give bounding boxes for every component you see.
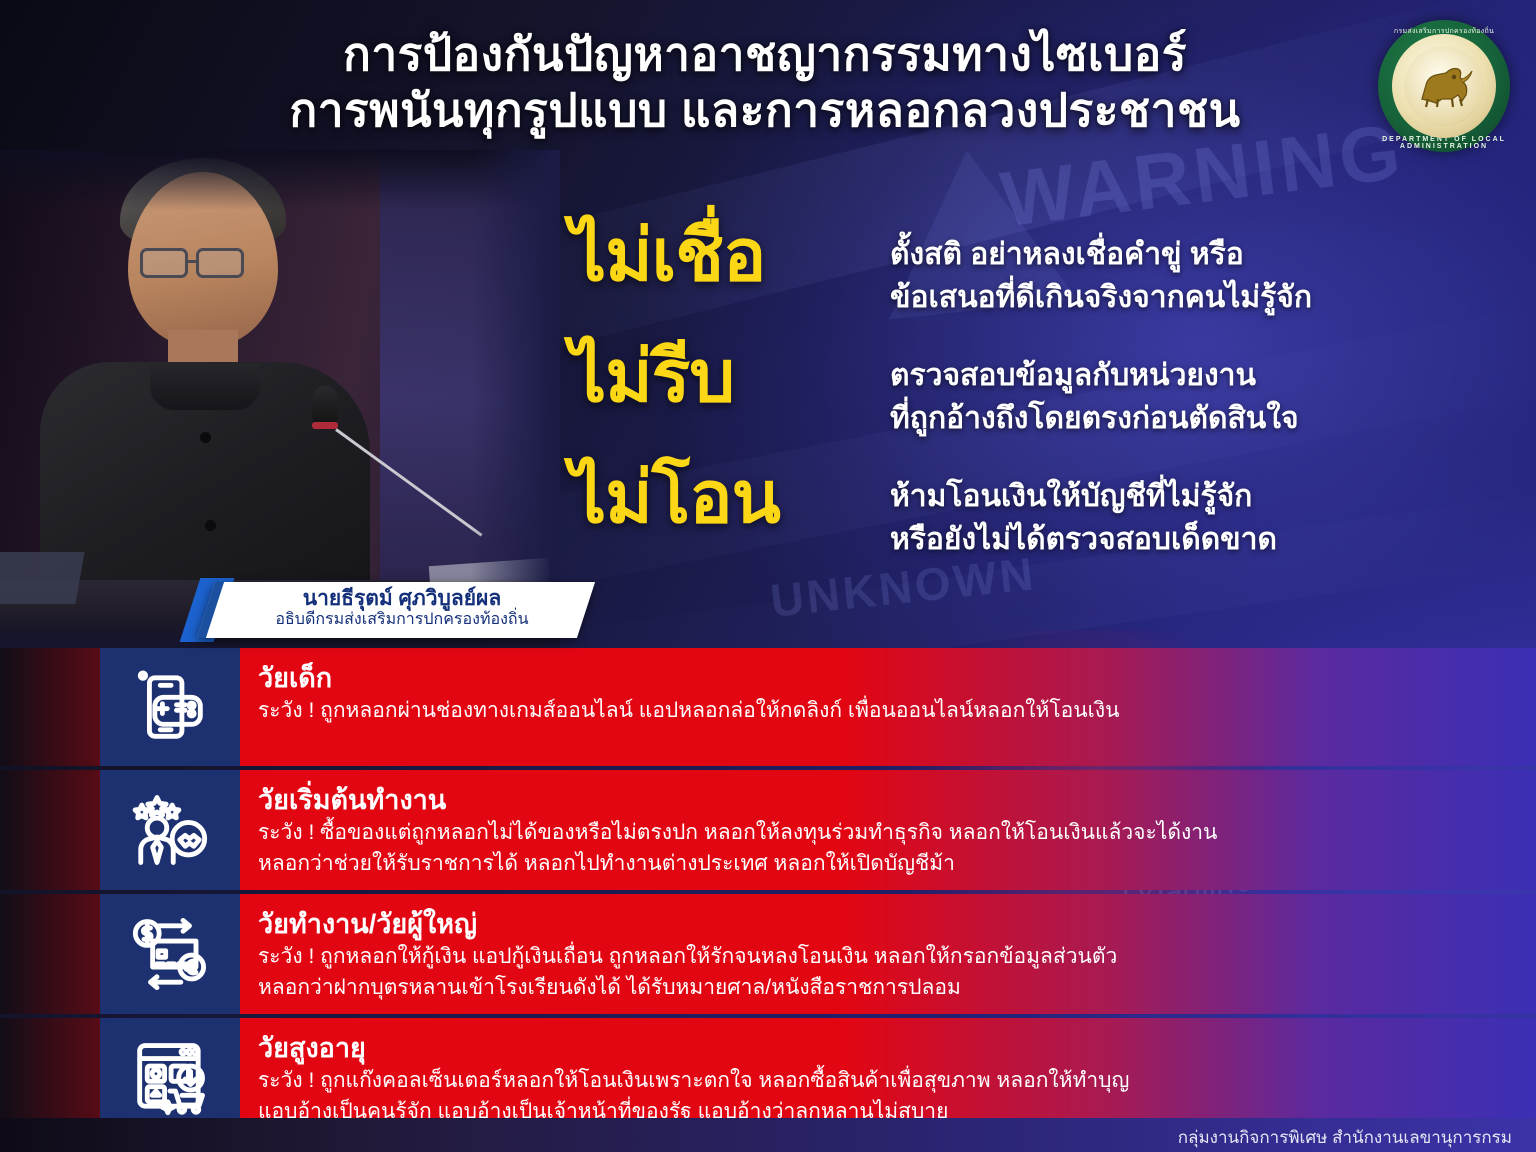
slogan-description: ห้ามโอนเงินให้บัญชีที่ไม่รู้จัก หรือยังไ… xyxy=(890,458,1500,561)
slogan-keyword: ไม่เชื่อ xyxy=(570,216,890,297)
online-shopping-icon xyxy=(131,1039,209,1117)
photo-collar xyxy=(150,364,260,410)
speaker-name: นายธีรุตม์ ศุภวิบูลย์ผล xyxy=(216,587,587,611)
slogan-keyword: ไม่รีบ xyxy=(570,337,890,418)
row-icon-container xyxy=(100,770,240,890)
slogan-desc-line: ห้ามโอนเงินให้บัญชีที่ไม่รู้จัก xyxy=(890,476,1500,519)
age-group-list: วัยเด็ก ระวัง ! ถูกหลอกผ่านช่องทางเกมส์อ… xyxy=(0,648,1536,1142)
slogan-desc-line: ตั้งสติ อย่าหลงเชื่อคำขู่ หรือ xyxy=(890,234,1500,277)
slogan-item: ไม่เชื่อ ตั้งสติ อย่าหลงเชื่อคำขู่ หรือ … xyxy=(570,216,1500,319)
speaker-photo xyxy=(0,150,560,650)
department-emblem-logo: กรมส่งเสริมการปกครองท้องถิ่น DEPARTMENT … xyxy=(1370,12,1518,160)
row-text-container: วัยเด็ก ระวัง ! ถูกหลอกผ่านช่องทางเกมส์อ… xyxy=(258,648,1496,766)
desc-line: หลอกว่าฝากบุตรหลานเข้าโรงเรียนดังได้ ได้… xyxy=(258,973,1496,1004)
slogan-desc-line: หรือยังไม่ได้ตรวจสอบเด็ดขาด xyxy=(890,519,1500,562)
phone-gamepad-icon xyxy=(131,668,209,746)
title-line-2: การพนันทุกรูปแบบ และการหลอกลวงประชาชน xyxy=(170,82,1360,138)
speaker-position: อธิบดีกรมส่งเสริมการปกครองท้องถิ่น xyxy=(216,611,587,629)
age-group-title: วัยทำงาน/วัยผู้ใหญ่ xyxy=(258,908,1496,940)
footer-credit: กลุ่มงานกิจการพิเศษ สำนักงานเลขานุการกรม xyxy=(1178,1124,1512,1151)
desc-line: หลอกว่าช่วยให้รับราชการได้ หลอกไปทำงานต่… xyxy=(258,849,1496,880)
emblem-center xyxy=(1404,46,1484,126)
slogan-desc-line: ที่ถูกอ้างถึงโดยตรงก่อนตัดสินใจ xyxy=(890,398,1500,441)
slogan-description: ตรวจสอบข้อมูลกับหน่วยงาน ที่ถูกอ้างถึงโด… xyxy=(890,337,1500,440)
age-group-row-working-adult: วัยทำงาน/วัยผู้ใหญ่ ระวัง ! ถูกหลอกให้กู… xyxy=(0,894,1536,1014)
desc-line: ระวัง ! ถูกแก๊งคอลเซ็นเตอร์หลอกให้โอนเงิ… xyxy=(258,1066,1496,1097)
age-group-row-child: วัยเด็ก ระวัง ! ถูกหลอกผ่านช่องทางเกมส์อ… xyxy=(0,648,1536,766)
age-group-title: วัยเริ่มต้นทำงาน xyxy=(258,784,1496,816)
person-stars-handshake-icon xyxy=(131,791,209,869)
age-group-title: วัยสูงอายุ xyxy=(258,1032,1496,1064)
slogan-desc-line: ตรวจสอบข้อมูลกับหน่วยงาน xyxy=(890,355,1500,398)
singha-lion-icon xyxy=(1412,57,1476,115)
desc-line: ระวัง ! ถูกหลอกให้กู้เงิน แอปกู้เงินเถื่… xyxy=(258,942,1496,973)
desc-line: ระวัง ! ถูกหลอกผ่านช่องทางเกมส์ออนไลน์ แ… xyxy=(258,696,1496,727)
photo-laptop xyxy=(0,552,85,604)
photo-mic-ring xyxy=(312,422,338,429)
photo-suit-button xyxy=(205,520,216,531)
row-text-container: วัยทำงาน/วัยผู้ใหญ่ ระวัง ! ถูกหลอกให้กู… xyxy=(258,894,1496,1014)
title-line-1: การป้องกันปัญหาอาชญากรรมทางไซเบอร์ xyxy=(170,26,1360,82)
photo-glasses-right xyxy=(196,248,244,278)
slogan-keyword: ไม่โอน xyxy=(570,458,890,539)
page-title: การป้องกันปัญหาอาชญากรรมทางไซเบอร์ การพน… xyxy=(170,26,1360,138)
row-icon-container xyxy=(100,894,240,1014)
age-group-title: วัยเด็ก xyxy=(258,662,1496,694)
photo-suit-button xyxy=(200,432,211,443)
slogan-item: ไม่โอน ห้ามโอนเงินให้บัญชีที่ไม่รู้จัก ห… xyxy=(570,458,1500,561)
age-group-description: ระวัง ! ซื้อของแต่ถูกหลอกไม่ได้ของหรือไม… xyxy=(258,818,1496,879)
age-group-row-early-career: วัยเริ่มต้นทำงาน ระวัง ! ซื้อของแต่ถูกหล… xyxy=(0,770,1536,890)
money-transfer-icon xyxy=(131,915,209,993)
row-icon-container xyxy=(100,648,240,766)
slogan-item: ไม่รีบ ตรวจสอบข้อมูลกับหน่วยงาน ที่ถูกอ้… xyxy=(570,337,1500,440)
slogan-section: ไม่เชื่อ ตั้งสติ อย่าหลงเชื่อคำขู่ หรือ … xyxy=(570,216,1500,580)
footer-bar: กลุ่มงานกิจการพิเศษ สำนักงานเลขานุการกรม xyxy=(0,1118,1536,1152)
speaker-name-badge: นายธีรุตม์ ศุภวิบูลย์ผล อธิบดีกรมส่งเสริ… xyxy=(197,582,595,638)
slogan-description: ตั้งสติ อย่าหลงเชื่อคำขู่ หรือ ข้อเสนอที… xyxy=(890,216,1500,319)
photo-glasses-left xyxy=(140,248,188,278)
photo-fade-right xyxy=(470,150,560,650)
photo-glasses-bridge xyxy=(188,260,198,263)
age-group-description: ระวัง ! ถูกหลอกให้กู้เงิน แอปกู้เงินเถื่… xyxy=(258,942,1496,1003)
age-group-description: ระวัง ! ถูกหลอกผ่านช่องทางเกมส์ออนไลน์ แ… xyxy=(258,696,1496,727)
slogan-desc-line: ข้อเสนอที่ดีเกินจริงจากคนไม่รู้จัก xyxy=(890,277,1500,320)
infographic-poster: WARNING UNKNOWN Deadline การป้องกันปัญหา… xyxy=(0,0,1536,1152)
desc-line: ระวัง ! ซื้อของแต่ถูกหลอกไม่ได้ของหรือไม… xyxy=(258,818,1496,849)
emblem-english-text: DEPARTMENT OF LOCAL ADMINISTRATION xyxy=(1370,136,1518,150)
row-text-container: วัยเริ่มต้นทำงาน ระวัง ! ซื้อของแต่ถูกหล… xyxy=(258,770,1496,890)
